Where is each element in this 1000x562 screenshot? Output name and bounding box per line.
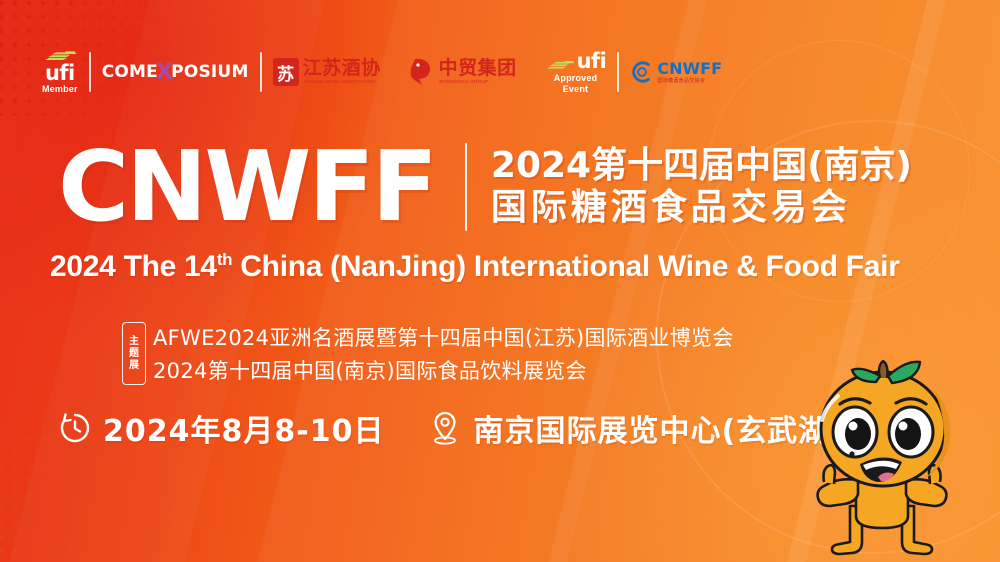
subtitle-after: China (NanJing) International Wine & Foo… xyxy=(232,250,899,283)
cnwff-logo-text: CNWFF xyxy=(657,61,722,77)
headline-block: CNWFF 2024第十四届中国(南京) 国际糖酒食品交易会 xyxy=(58,138,912,235)
theme-badge-char-1: 主 xyxy=(129,336,139,347)
event-title-chinese: 2024第十四届中国(南京) 国际糖酒食品交易会 xyxy=(491,147,912,226)
comexposium-right: POSIUM xyxy=(171,62,248,82)
logo-ufi-word: ufi xyxy=(45,63,75,84)
event-date: 2024年8月8-10日 xyxy=(58,406,384,450)
logo-ufi-approved-event: ufi Approved Event xyxy=(545,46,607,98)
logo-spacer xyxy=(392,52,398,92)
event-venue: 南京国际展览中心(玄武湖) xyxy=(428,406,843,450)
comexposium-left: COME xyxy=(102,62,158,82)
logo-ufi-word: ufi xyxy=(577,51,607,72)
ufi-wing-icon xyxy=(43,51,77,62)
theme-exhibition-list: AFWE2024亚洲名酒展暨第十四届中国(江苏)国际酒业博览会 2024第十四届… xyxy=(153,322,734,385)
zhongmao-name: 中贸集团 xyxy=(439,59,517,78)
logo-ufi-approved-line1: Approved xyxy=(554,73,598,83)
logo-zhongmao-group: 中贸集团 ZHONGMAO GROUP xyxy=(409,46,517,98)
logo-comexposium: COME X POSIUM xyxy=(102,46,249,98)
theme-badge-char-2: 题 xyxy=(129,348,139,359)
logo-divider xyxy=(617,52,619,92)
clock-icon xyxy=(58,411,92,445)
orange-mascot xyxy=(784,356,994,562)
event-banner: ufi Member COME X POSIUM 苏 江苏酒协 JIANGSU … xyxy=(0,0,1000,562)
logo-ufi-member: ufi Member xyxy=(42,46,78,98)
event-title-english: 2024 The 14th China (NanJing) Internatio… xyxy=(50,250,900,284)
cnwff-globe-icon xyxy=(630,60,654,84)
theme-exhibitions-block: 主 题 展 AFWE2024亚洲名酒展暨第十四届中国(江苏)国际酒业博览会 20… xyxy=(122,322,734,385)
event-date-text: 2024年8月8-10日 xyxy=(103,406,384,450)
theme-exhibition-item: AFWE2024亚洲名酒展暨第十四届中国(江苏)国际酒业博览会 xyxy=(153,322,734,352)
ufi-wing-icon xyxy=(545,60,575,71)
headline-divider xyxy=(465,143,467,231)
event-title-chinese-line1: 2024第十四届中国(南京) xyxy=(491,147,912,184)
subtitle-before: 2024 The 14 xyxy=(50,250,217,283)
jiangsu-name: 江苏酒协 xyxy=(303,59,381,78)
theme-badge-char-3: 展 xyxy=(129,360,139,371)
logo-divider xyxy=(89,52,91,92)
sponsor-logo-bar: ufi Member COME X POSIUM 苏 江苏酒协 JIANGSU … xyxy=(42,46,722,98)
logo-cnwff: CNWFF 国际糖酒食品交易会 xyxy=(630,46,722,98)
logo-divider xyxy=(260,52,262,92)
subtitle-ordinal: th xyxy=(217,250,232,269)
event-acronym: CNWFF xyxy=(58,138,435,235)
logo-jiangsu-wine-association: 苏 江苏酒协 JIANGSU WINE ASSOCIATION xyxy=(273,46,381,98)
event-meta-block: 2024年8月8-10日 南京国际展览中心(玄武湖) xyxy=(58,406,844,450)
zhongmao-name-en: ZHONGMAO GROUP xyxy=(439,80,513,85)
event-title-chinese-line2: 国际糖酒食品交易会 xyxy=(491,189,912,226)
jiangsu-seal-icon: 苏 xyxy=(273,58,299,86)
zhongmao-beast-icon xyxy=(409,57,435,87)
logo-spacer xyxy=(528,52,534,92)
theme-exhibition-item: 2024第十四届中国(南京)国际食品饮料展览会 xyxy=(153,355,734,385)
logo-ufi-sub: Member xyxy=(42,85,78,94)
jiangsu-name-en: JIANGSU WINE ASSOCIATION xyxy=(303,80,377,85)
location-pin-icon xyxy=(428,410,462,446)
theme-exhibition-badge: 主 题 展 xyxy=(122,322,146,385)
cnwff-logo-subtext: 国际糖酒食品交易会 xyxy=(657,79,722,84)
logo-ufi-approved-line2: Event xyxy=(563,84,589,94)
